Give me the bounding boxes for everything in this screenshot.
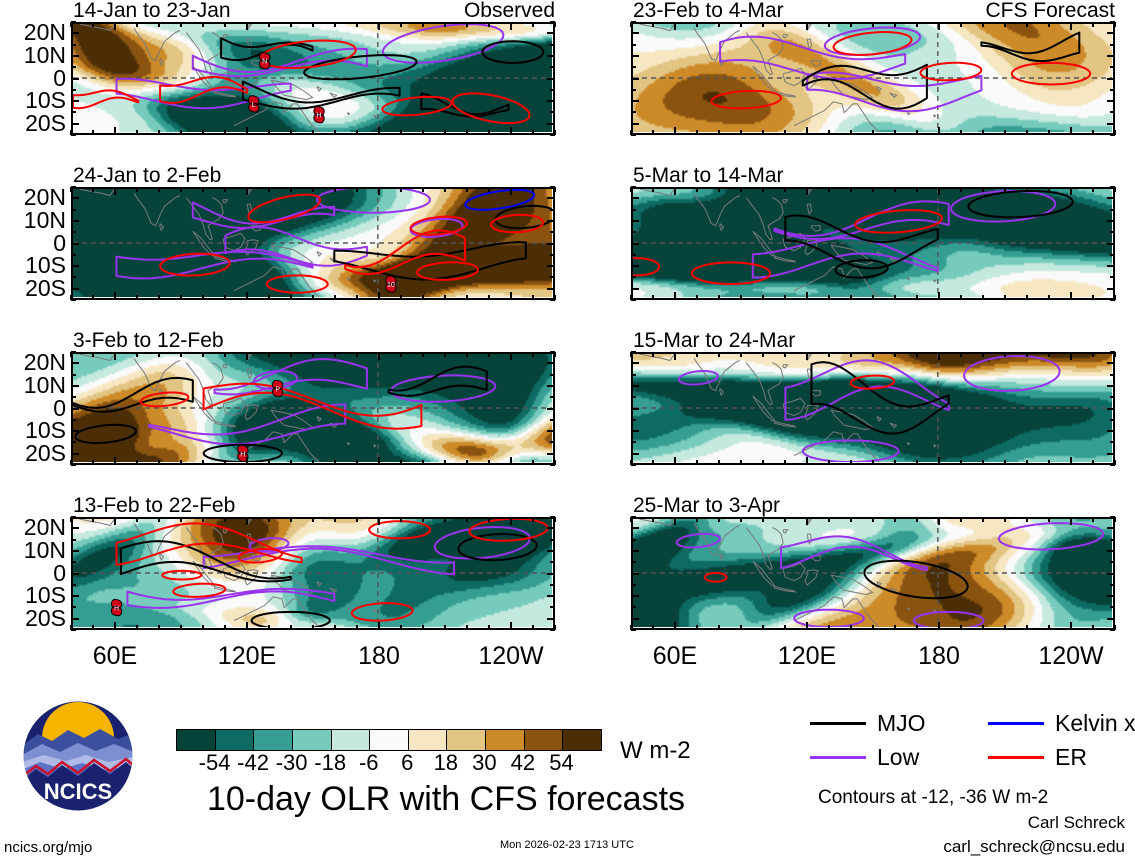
colorbar-swatch-5 — [370, 730, 409, 750]
legend-label: ER — [1055, 746, 1087, 769]
legend-item-kelvin-x2: Kelvin x2 — [988, 712, 1135, 735]
column-header-0: Observed — [71, 0, 555, 21]
author-name: Carl Schreck — [1028, 814, 1125, 831]
colorbar-tick-18: 18 — [434, 752, 458, 774]
column-header-1: CFS Forecast — [631, 0, 1115, 21]
colorbar-units-label: W m-2 — [620, 739, 691, 763]
ncics-logo-text: NCICS — [44, 779, 112, 804]
panel-title-3: 13-Feb to 22-Feb — [73, 495, 235, 516]
colorbar-swatch-0 — [177, 730, 216, 750]
legend-label: MJO — [877, 712, 926, 735]
y-tick-label-r0-20S: 20S — [0, 112, 66, 135]
y-tick-label-r1-10S: 10S — [0, 254, 66, 277]
colorbar-tick-54: 54 — [549, 752, 573, 774]
map-overlay-6 — [633, 354, 1112, 462]
colorbar-swatch-6 — [409, 730, 448, 750]
wave-contours — [73, 359, 495, 462]
y-tick-label-r2-10N: 10N — [0, 374, 66, 397]
y-tick-label-r0-10S: 10S — [0, 89, 66, 112]
contour-note: Contours at -12, -36 W m-2 — [818, 788, 1048, 807]
legend-line-icon — [988, 722, 1044, 725]
y-tick-label-r3-10S: 10S — [0, 584, 66, 607]
y-tick-label-r0-10N: 10N — [0, 44, 66, 67]
colorbar-tick-labels: -54-42-30-18-6618304254 — [176, 752, 600, 778]
legend-item-mjo: MJO — [810, 712, 926, 735]
x-tick-label-c0-60E: 60E — [79, 644, 151, 669]
map-overlay-5 — [633, 189, 1112, 297]
wave-contours — [679, 356, 1060, 462]
colorbar-tick-6: 6 — [401, 752, 413, 774]
x-tick-label-c1-60E: 60E — [639, 644, 711, 669]
wave-contours — [711, 28, 1090, 112]
wave-contours — [117, 189, 553, 293]
legend-line-icon — [810, 756, 866, 759]
y-tick-label-r2-20N: 20N — [0, 351, 66, 374]
map-panel-2: PH — [71, 352, 555, 465]
y-tick-label-r0-0: 0 — [0, 67, 66, 90]
colorbar — [176, 729, 602, 751]
colorbar-tick--54: -54 — [199, 752, 231, 774]
legend-label: Low — [877, 746, 919, 769]
panel-title-2: 3-Feb to 12-Feb — [73, 330, 224, 351]
colorbar-swatch-3 — [293, 730, 332, 750]
y-tick-label-r3-10N: 10N — [0, 539, 66, 562]
x-tick-label-c0-120E: 120E — [211, 644, 283, 669]
y-tick-label-r1-20S: 20S — [0, 277, 66, 300]
colorbar-swatch-2 — [254, 730, 293, 750]
svg-text:H: H — [240, 451, 245, 458]
legend-item-er: ER — [988, 746, 1087, 769]
ncics-logo-icon: NCICS — [22, 700, 134, 812]
colorbar-swatch-4 — [332, 730, 371, 750]
svg-text:N: N — [262, 59, 267, 66]
y-tick-label-r2-0: 0 — [0, 397, 66, 420]
svg-text:H: H — [317, 113, 322, 120]
panel-title-1: 24-Jan to 2-Feb — [73, 165, 221, 186]
map-overlay-4 — [633, 24, 1112, 132]
map-panel-0: NLH — [71, 22, 555, 135]
x-tick-label-c1-180: 180 — [903, 644, 975, 669]
x-tick-label-c1-120W: 120W — [1035, 644, 1107, 669]
wave-contours — [633, 191, 1073, 284]
map-panel-3: H — [71, 517, 555, 630]
legend-item-low: Low — [810, 746, 919, 769]
x-tick-label-c1-120E: 120E — [771, 644, 843, 669]
legend-line-icon — [988, 756, 1044, 759]
svg-text:10: 10 — [387, 282, 395, 289]
y-tick-label-r0-20N: 20N — [0, 21, 66, 44]
y-tick-label-r1-10N: 10N — [0, 209, 66, 232]
ncics-logo: NCICS — [22, 700, 134, 812]
author-email: carl_schreck@ncsu.edu — [943, 838, 1125, 855]
storm-markers: H — [111, 599, 121, 615]
y-tick-label-r2-10S: 10S — [0, 419, 66, 442]
legend-label: Kelvin x2 — [1055, 712, 1135, 735]
timestamp: Mon 2026-02-23 1713 UTC — [500, 840, 634, 851]
panel-title-7: 25-Mar to 3-Apr — [633, 495, 780, 516]
logo-url-text: ncics.org/mjo — [4, 840, 92, 855]
colorbar-tick-30: 30 — [472, 752, 496, 774]
colorbar-swatch-9 — [525, 730, 564, 750]
y-tick-label-r3-20S: 20S — [0, 607, 66, 630]
panel-title-6: 15-Mar to 24-Mar — [633, 330, 795, 351]
svg-text:H: H — [114, 606, 119, 613]
map-overlay-1: 10 — [73, 189, 552, 297]
contour-legend: MJOKelvin x2LowER — [810, 712, 1130, 776]
colorbar-tick--30: -30 — [276, 752, 308, 774]
x-tick-label-c0-180: 180 — [343, 644, 415, 669]
map-panel-1: 10 — [71, 187, 555, 300]
colorbar-tick--18: -18 — [314, 752, 346, 774]
storm-markers: 10 — [386, 276, 396, 292]
colorbar-tick--42: -42 — [237, 752, 269, 774]
colorbar-swatch-10 — [563, 730, 601, 750]
map-panel-5 — [631, 187, 1115, 300]
colorbar-swatch-8 — [486, 730, 525, 750]
legend-line-icon — [810, 722, 866, 725]
y-tick-label-r1-20N: 20N — [0, 186, 66, 209]
map-overlay-3: H — [73, 519, 552, 627]
x-tick-label-c0-120W: 120W — [475, 644, 547, 669]
colorbar-tick--6: -6 — [359, 752, 379, 774]
wave-contours — [73, 24, 543, 123]
map-panel-7 — [631, 517, 1115, 630]
map-overlay-2: PH — [73, 354, 552, 462]
panel-title-5: 5-Mar to 14-Mar — [633, 165, 784, 186]
colorbar-swatch-1 — [216, 730, 255, 750]
wave-contours — [677, 523, 1103, 627]
y-tick-label-r2-20S: 20S — [0, 442, 66, 465]
colorbar-swatch-7 — [447, 730, 486, 750]
y-tick-label-r1-0: 0 — [0, 232, 66, 255]
svg-text:L: L — [252, 102, 256, 109]
map-overlay-7 — [633, 519, 1112, 627]
map-overlay-0: NLH — [73, 24, 552, 132]
map-panel-4 — [631, 22, 1115, 135]
map-panel-6 — [631, 352, 1115, 465]
y-tick-label-r3-20N: 20N — [0, 516, 66, 539]
main-title: 10-day OLR with CFS forecasts — [176, 782, 716, 816]
colorbar-tick-42: 42 — [511, 752, 535, 774]
svg-text:P: P — [275, 387, 280, 394]
y-tick-label-r3-0: 0 — [0, 562, 66, 585]
